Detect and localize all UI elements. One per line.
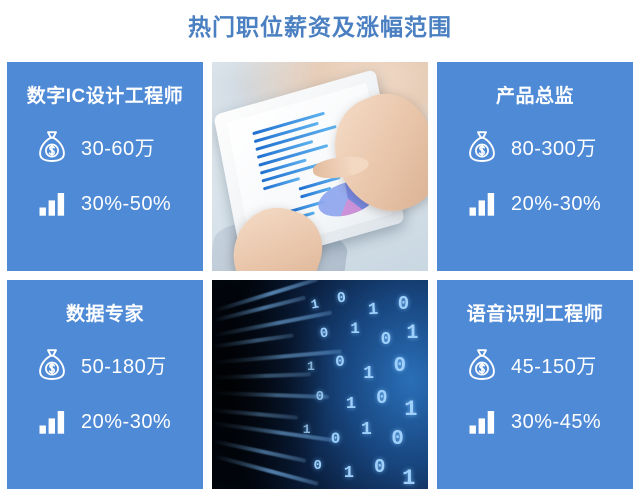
job-card-bottom-right[interactable]: 语音识别工程师 45-150万 [437, 280, 633, 489]
page-title: 热门职位薪资及涨幅范围 [0, 10, 640, 44]
bar-chart-icon [465, 404, 499, 440]
salary-value: 30-60万 [81, 132, 155, 161]
growth-row: 30%-50% [35, 186, 203, 222]
growth-value: 20%-30% [81, 411, 171, 434]
job-title: 产品总监 [496, 84, 574, 110]
salary-value: 45-150万 [511, 350, 597, 379]
money-bag-icon [465, 346, 499, 382]
photo-tablet-charts [212, 62, 428, 271]
money-bag-icon [35, 346, 69, 382]
growth-row: 30%-45% [465, 404, 633, 440]
job-card-top-right[interactable]: 产品总监 80-300万 [437, 62, 633, 271]
salary-value: 50-180万 [81, 350, 167, 379]
bar-chart-icon [465, 186, 499, 222]
growth-row: 20%-30% [35, 404, 203, 440]
infographic-root: 热门职位薪资及涨幅范围 数字IC设计工程师 30-60万 [0, 0, 640, 494]
salary-row: 45-150万 [465, 346, 633, 382]
money-bag-icon [35, 128, 69, 164]
salary-row: 30-60万 [35, 128, 203, 164]
salary-row: 50-180万 [35, 346, 203, 382]
job-stats: 45-150万 30%-45% [437, 346, 633, 440]
salary-value: 80-300万 [511, 132, 597, 161]
photo-binary-data: 1 0 1 0 0 1 0 1 1 0 1 0 0 1 0 1 1 0 1 0 … [212, 280, 428, 489]
job-card-bottom-left[interactable]: 数据专家 50-180万 [7, 280, 203, 489]
job-stats: 30-60万 30%-50% [7, 128, 203, 222]
growth-value: 20%-30% [511, 193, 601, 216]
job-card-top-left[interactable]: 数字IC设计工程师 30-60万 [7, 62, 203, 271]
bar-chart-icon [35, 404, 69, 440]
growth-value: 30%-45% [511, 411, 601, 434]
salary-row: 80-300万 [465, 128, 633, 164]
cards-grid: 数字IC设计工程师 30-60万 [7, 62, 633, 489]
job-stats: 80-300万 20%-30% [437, 128, 633, 222]
job-title: 数字IC设计工程师 [27, 84, 184, 110]
job-title: 语音识别工程师 [467, 302, 604, 328]
job-title: 数据专家 [66, 302, 144, 328]
growth-row: 20%-30% [465, 186, 633, 222]
bar-chart-icon [35, 186, 69, 222]
growth-value: 30%-50% [81, 193, 171, 216]
job-stats: 50-180万 20%-30% [7, 346, 203, 440]
money-bag-icon [465, 128, 499, 164]
